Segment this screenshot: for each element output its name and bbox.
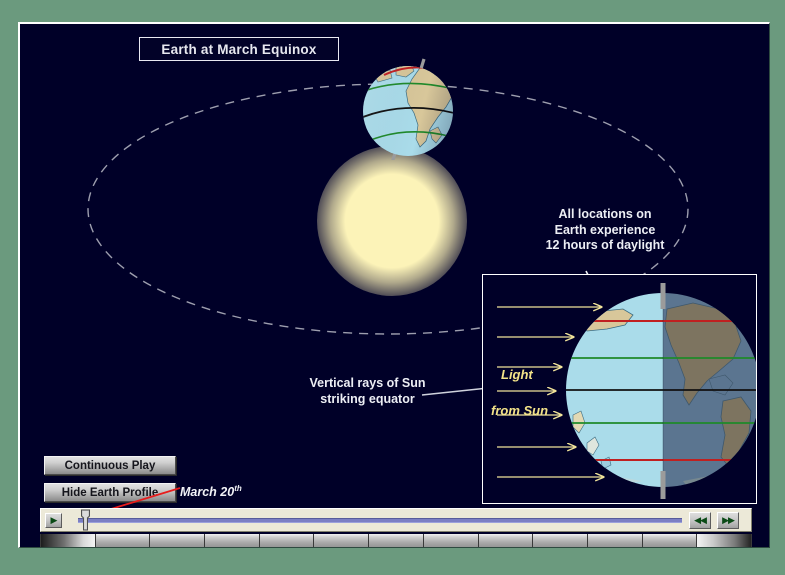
- rewind-button[interactable]: ◀◀: [689, 512, 711, 529]
- annotation-vertical-rays: Vertical rays of Sun striking equator: [285, 376, 450, 407]
- application-window: All locations on Earth experience 12 hou…: [0, 0, 785, 575]
- timeline-toolbar: ▶ ◀◀ ▶▶: [40, 508, 752, 532]
- continuous-play-label: Continuous Play: [65, 460, 156, 472]
- page-title: Earth at March Equinox: [139, 37, 339, 61]
- fast-forward-icon: ▶▶: [722, 516, 734, 525]
- current-date-text: March 20: [180, 485, 234, 499]
- fast-forward-button[interactable]: ▶▶: [717, 512, 739, 529]
- current-date-suffix: th: [234, 484, 242, 493]
- month-segment[interactable]: [696, 534, 751, 548]
- month-segment[interactable]: [40, 534, 95, 548]
- month-segment[interactable]: [95, 534, 150, 548]
- page-title-text: Earth at March Equinox: [161, 42, 316, 57]
- month-segment[interactable]: [313, 534, 368, 548]
- month-segment[interactable]: [259, 534, 314, 548]
- timeline-track[interactable]: [78, 518, 682, 523]
- animation-scene: All locations on Earth experience 12 hou…: [18, 22, 770, 548]
- month-segment[interactable]: [642, 534, 697, 548]
- light-from-sun-label-line2: from Sun: [491, 403, 548, 418]
- current-date-flag: March 20th: [180, 484, 242, 499]
- annotation-daylight: All locations on Earth experience 12 hou…: [525, 207, 685, 254]
- earth-profile-panel: Light from Sun: [482, 274, 757, 504]
- month-segment[interactable]: [587, 534, 642, 548]
- hide-earth-profile-button[interactable]: Hide Earth Profile: [44, 483, 176, 502]
- continuous-play-button[interactable]: Continuous Play: [44, 456, 176, 475]
- month-segment[interactable]: [149, 534, 204, 548]
- timeline-slider-thumb[interactable]: [79, 509, 92, 533]
- month-segment[interactable]: [532, 534, 587, 548]
- play-icon: ▶: [51, 516, 57, 525]
- rewind-icon: ◀◀: [694, 516, 706, 525]
- timeline-month-strip[interactable]: [40, 534, 752, 548]
- earth-profile-diagram: [483, 275, 757, 504]
- light-from-sun-label-line1: Light: [501, 367, 533, 382]
- month-segment[interactable]: [423, 534, 478, 548]
- hide-earth-profile-label: Hide Earth Profile: [62, 487, 159, 499]
- month-segment[interactable]: [368, 534, 423, 548]
- month-segment[interactable]: [478, 534, 533, 548]
- month-segment[interactable]: [204, 534, 259, 548]
- play-button[interactable]: ▶: [45, 513, 62, 528]
